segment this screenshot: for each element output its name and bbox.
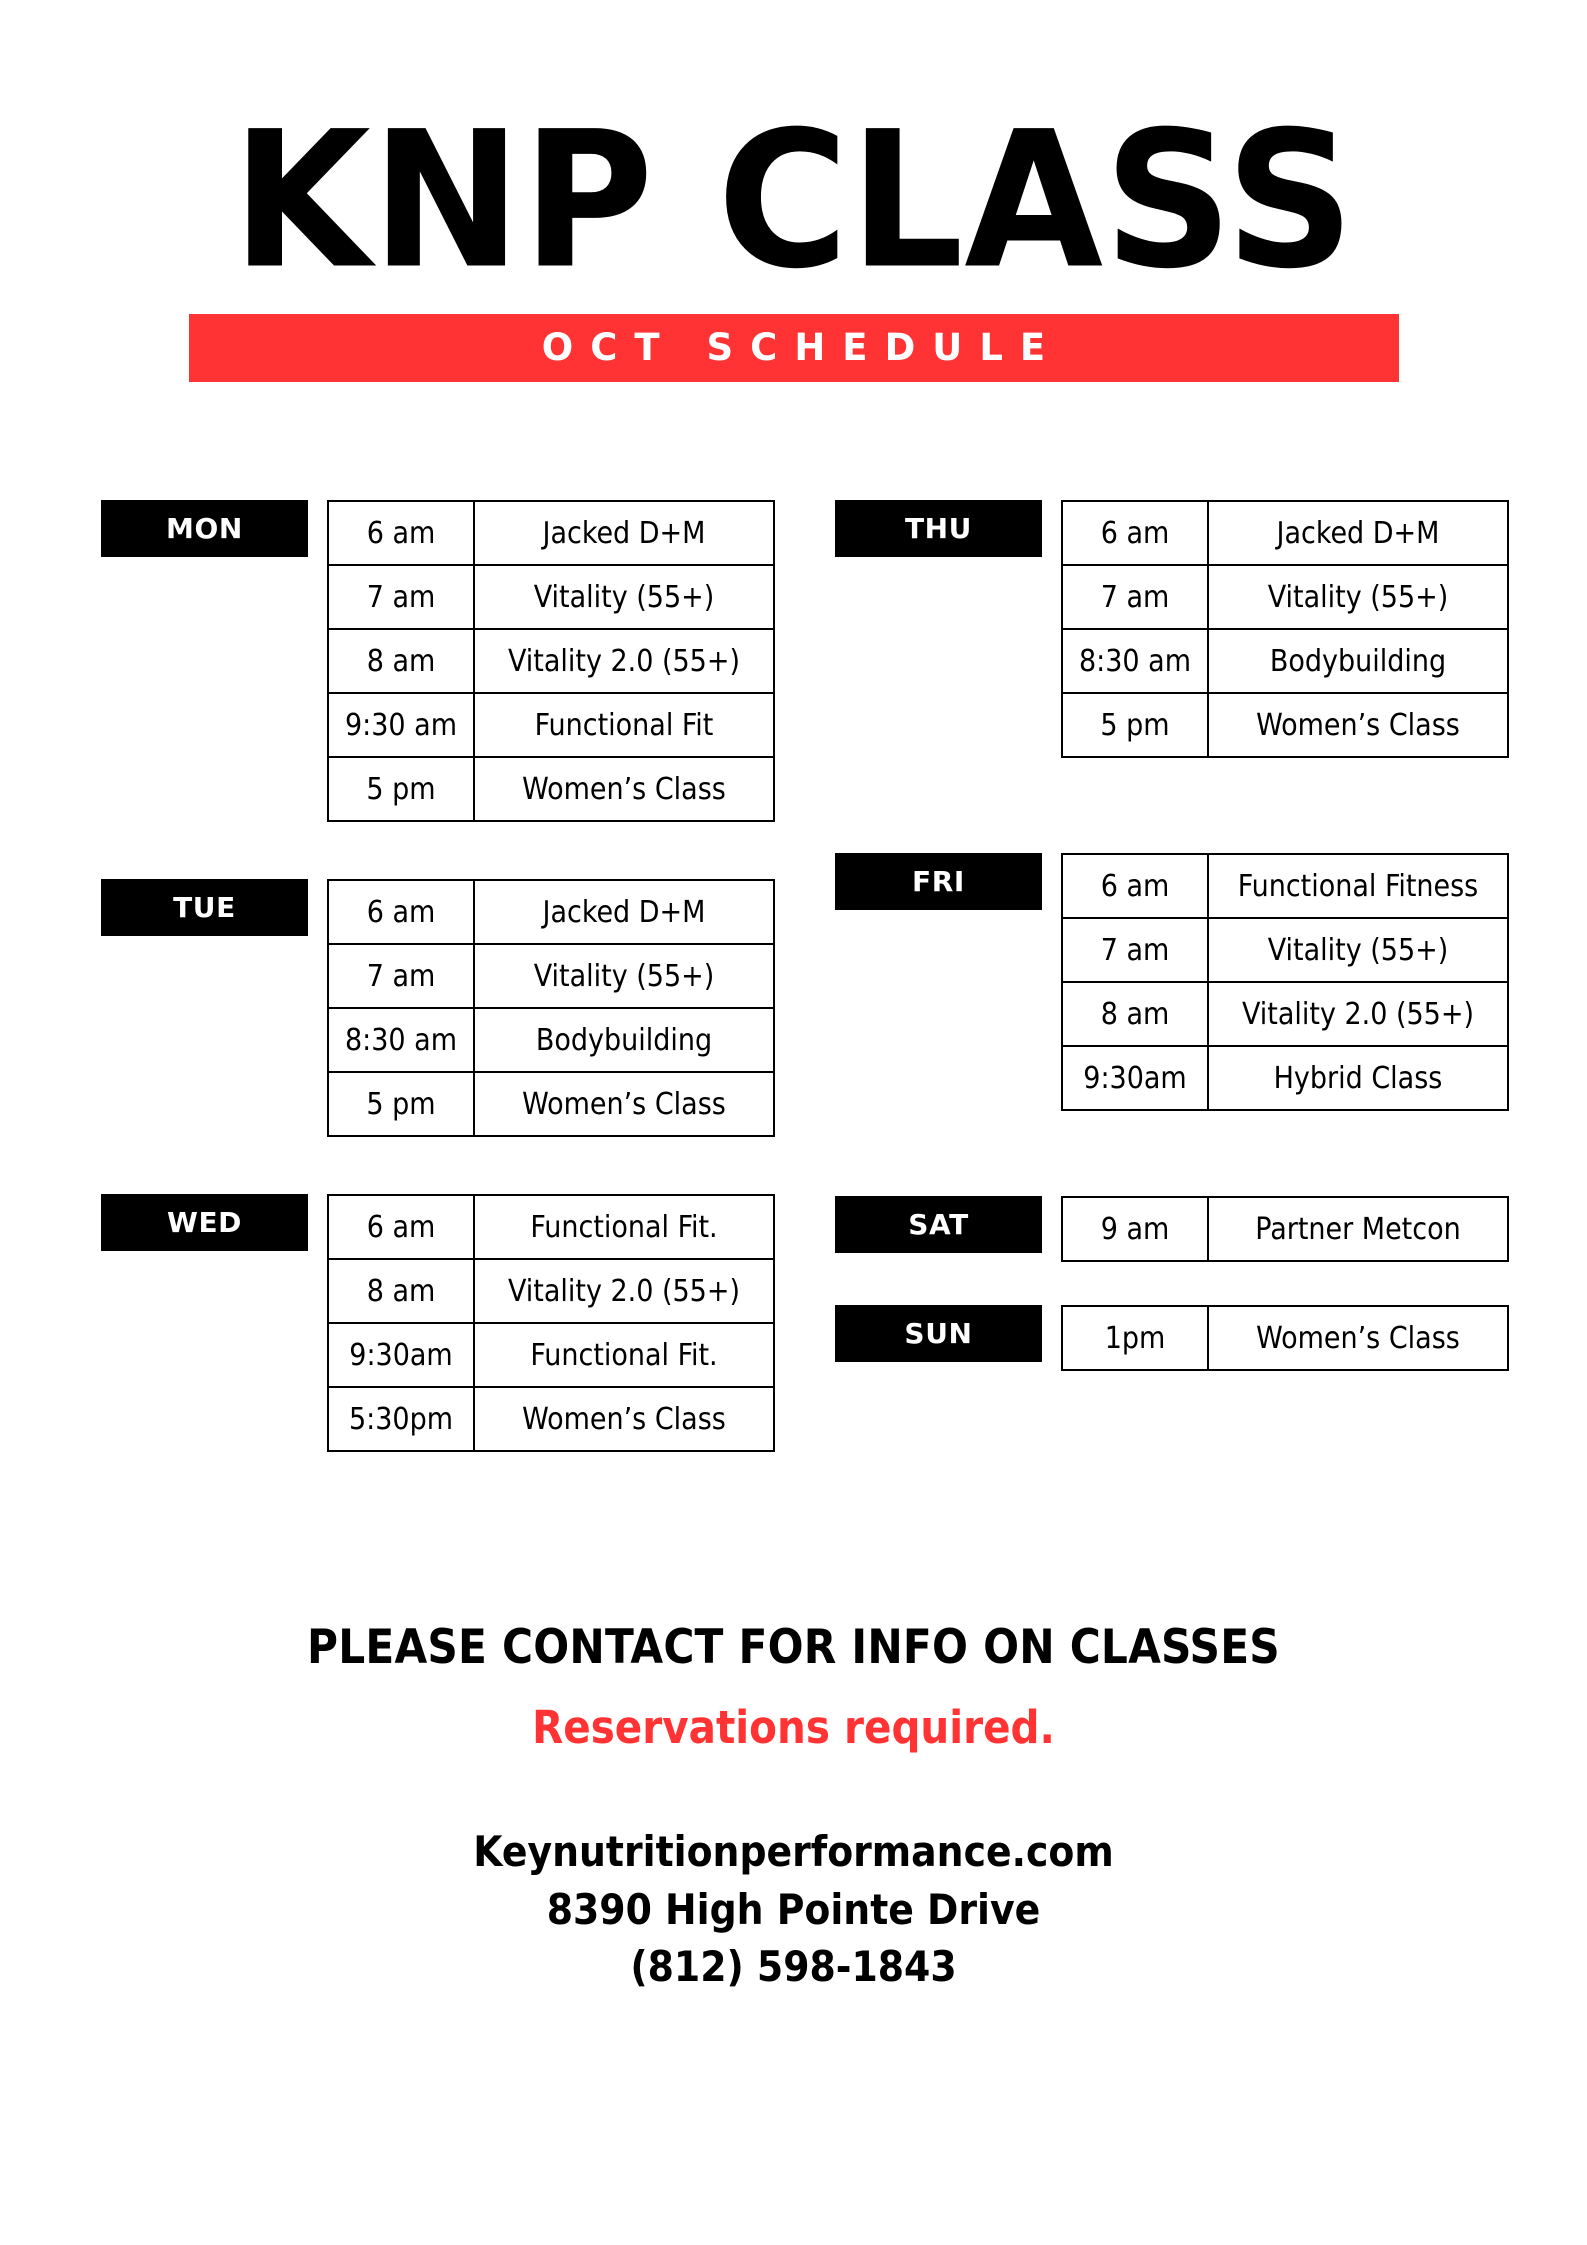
- cell-class-name: Women’s Class: [474, 1387, 774, 1451]
- day-label-text: SUN: [904, 1317, 972, 1350]
- cell-class-name: Functional Fit.: [474, 1195, 774, 1259]
- table-row: 6 am Functional Fitness: [1062, 854, 1508, 918]
- subtitle-banner: OCT SCHEDULE: [189, 314, 1399, 382]
- day-label-text: SAT: [908, 1208, 969, 1241]
- poster-footer: PLEASE CONTACT FOR INFO ON CLASSES Reser…: [0, 1620, 1587, 1996]
- cell-time: 8 am: [1062, 982, 1208, 1046]
- contact-website[interactable]: Keynutritionperformance.com: [0, 1823, 1587, 1881]
- day-label-text: WED: [167, 1206, 242, 1239]
- cell-class-name: Jacked D+M: [474, 501, 774, 565]
- schedule-table-sat: 9 am Partner Metcon: [1061, 1196, 1509, 1262]
- contact-headline: PLEASE CONTACT FOR INFO ON CLASSES: [0, 1620, 1587, 1675]
- schedule-table-sun: 1pm Women’s Class: [1061, 1305, 1509, 1371]
- cell-class-name: Jacked D+M: [1208, 501, 1508, 565]
- cell-time: 6 am: [328, 1195, 474, 1259]
- cell-time: 5 pm: [328, 1072, 474, 1136]
- cell-class-name: Functional Fit: [474, 693, 774, 757]
- cell-class-name: Hybrid Class: [1208, 1046, 1508, 1110]
- table-row: 9:30am Hybrid Class: [1062, 1046, 1508, 1110]
- cell-time: 1pm: [1062, 1306, 1208, 1370]
- cell-class-name: Vitality 2.0 (55+): [474, 1259, 774, 1323]
- schedule-column-right: THU 6 am Jacked D+M 7 am Vitality (55+) …: [835, 500, 1505, 1452]
- cell-class-name: Vitality 2.0 (55+): [474, 629, 774, 693]
- cell-time: 9:30am: [1062, 1046, 1208, 1110]
- cell-time: 9:30 am: [328, 693, 474, 757]
- cell-class-name: Women’s Class: [474, 1072, 774, 1136]
- day-label-fri: FRI: [835, 853, 1042, 910]
- table-row: 8 am Vitality 2.0 (55+): [1062, 982, 1508, 1046]
- day-block-wed: WED 6 am Functional Fit. 8 am Vitality 2…: [101, 1194, 773, 1452]
- cell-class-name: Vitality (55+): [1208, 918, 1508, 982]
- day-label-text: MON: [166, 512, 243, 545]
- schedule-column-left: MON 6 am Jacked D+M 7 am Vitality (55+) …: [101, 500, 773, 1452]
- cell-class-name: Vitality (55+): [474, 944, 774, 1008]
- cell-time: 6 am: [1062, 854, 1208, 918]
- cell-time: 7 am: [1062, 918, 1208, 982]
- day-block-tue: TUE 6 am Jacked D+M 7 am Vitality (55+) …: [101, 879, 773, 1137]
- table-row: 9:30 am Functional Fit: [328, 693, 774, 757]
- schedule-table-mon: 6 am Jacked D+M 7 am Vitality (55+) 8 am…: [327, 500, 775, 822]
- cell-class-name: Women’s Class: [474, 757, 774, 821]
- table-row: 6 am Jacked D+M: [1062, 501, 1508, 565]
- table-row: 6 am Jacked D+M: [328, 880, 774, 944]
- schedule-area: MON 6 am Jacked D+M 7 am Vitality (55+) …: [0, 500, 1587, 1452]
- cell-class-name: Jacked D+M: [474, 880, 774, 944]
- cell-time: 9:30am: [328, 1323, 474, 1387]
- day-label-wed: WED: [101, 1194, 308, 1251]
- table-row: 5:30pm Women’s Class: [328, 1387, 774, 1451]
- cell-class-name: Vitality 2.0 (55+): [1208, 982, 1508, 1046]
- day-label-text: TUE: [173, 891, 236, 924]
- schedule-table-fri: 6 am Functional Fitness 7 am Vitality (5…: [1061, 853, 1509, 1111]
- day-label-text: FRI: [912, 865, 965, 898]
- cell-time: 7 am: [328, 565, 474, 629]
- cell-time: 8 am: [328, 1259, 474, 1323]
- poster-header: KNP CLASS OCT SCHEDULE: [0, 0, 1587, 382]
- cell-time: 5 pm: [1062, 693, 1208, 757]
- contact-address: 8390 High Pointe Drive: [0, 1881, 1587, 1939]
- cell-time: 8:30 am: [1062, 629, 1208, 693]
- cell-time: 6 am: [328, 501, 474, 565]
- cell-time: 6 am: [328, 880, 474, 944]
- schedule-table-tue: 6 am Jacked D+M 7 am Vitality (55+) 8:30…: [327, 879, 775, 1137]
- cell-time: 7 am: [1062, 565, 1208, 629]
- schedule-table-thu: 6 am Jacked D+M 7 am Vitality (55+) 8:30…: [1061, 500, 1509, 758]
- cell-class-name: Women’s Class: [1208, 1306, 1508, 1370]
- day-block-mon: MON 6 am Jacked D+M 7 am Vitality (55+) …: [101, 500, 773, 822]
- cell-class-name: Partner Metcon: [1208, 1197, 1508, 1261]
- cell-time: 8:30 am: [328, 1008, 474, 1072]
- day-block-fri: FRI 6 am Functional Fitness 7 am Vitalit…: [835, 853, 1505, 1111]
- table-row: 9 am Partner Metcon: [1062, 1197, 1508, 1261]
- table-row: 7 am Vitality (55+): [328, 565, 774, 629]
- cell-class-name: Vitality (55+): [474, 565, 774, 629]
- table-row: 6 am Jacked D+M: [328, 501, 774, 565]
- table-row: 5 pm Women’s Class: [328, 1072, 774, 1136]
- cell-class-name: Women’s Class: [1208, 693, 1508, 757]
- cell-class-name: Bodybuilding: [474, 1008, 774, 1072]
- cell-time: 5 pm: [328, 757, 474, 821]
- table-row: 8:30 am Bodybuilding: [1062, 629, 1508, 693]
- cell-time: 6 am: [1062, 501, 1208, 565]
- day-label-tue: TUE: [101, 879, 308, 936]
- table-row: 7 am Vitality (55+): [1062, 918, 1508, 982]
- contact-details: Keynutritionperformance.com 8390 High Po…: [0, 1823, 1587, 1997]
- day-label-thu: THU: [835, 500, 1042, 557]
- cell-time: 9 am: [1062, 1197, 1208, 1261]
- table-row: 8:30 am Bodybuilding: [328, 1008, 774, 1072]
- contact-phone[interactable]: (812) 598-1843: [0, 1938, 1587, 1996]
- table-row: 5 pm Women’s Class: [328, 757, 774, 821]
- cell-class-name: Bodybuilding: [1208, 629, 1508, 693]
- subtitle-text: OCT SCHEDULE: [525, 329, 1062, 366]
- day-label-text: THU: [905, 512, 972, 545]
- cell-time: 8 am: [328, 629, 474, 693]
- reservations-note: Reservations required.: [0, 1701, 1587, 1754]
- table-row: 8 am Vitality 2.0 (55+): [328, 1259, 774, 1323]
- day-label-mon: MON: [101, 500, 308, 557]
- table-row: 7 am Vitality (55+): [328, 944, 774, 1008]
- cell-class-name: Vitality (55+): [1208, 565, 1508, 629]
- table-row: 9:30am Functional Fit.: [328, 1323, 774, 1387]
- table-row: 5 pm Women’s Class: [1062, 693, 1508, 757]
- cell-time: 5:30pm: [328, 1387, 474, 1451]
- day-block-sun: SUN 1pm Women’s Class: [835, 1305, 1505, 1371]
- day-label-sat: SAT: [835, 1196, 1042, 1253]
- table-row: 7 am Vitality (55+): [1062, 565, 1508, 629]
- page-title: KNP CLASS: [0, 118, 1587, 284]
- cell-time: 7 am: [328, 944, 474, 1008]
- schedule-table-wed: 6 am Functional Fit. 8 am Vitality 2.0 (…: [327, 1194, 775, 1452]
- day-block-sat: SAT 9 am Partner Metcon: [835, 1196, 1505, 1262]
- table-row: 8 am Vitality 2.0 (55+): [328, 629, 774, 693]
- day-block-thu: THU 6 am Jacked D+M 7 am Vitality (55+) …: [835, 500, 1505, 758]
- cell-class-name: Functional Fit.: [474, 1323, 774, 1387]
- cell-class-name: Functional Fitness: [1208, 854, 1508, 918]
- table-row: 6 am Functional Fit.: [328, 1195, 774, 1259]
- table-row: 1pm Women’s Class: [1062, 1306, 1508, 1370]
- day-label-sun: SUN: [835, 1305, 1042, 1362]
